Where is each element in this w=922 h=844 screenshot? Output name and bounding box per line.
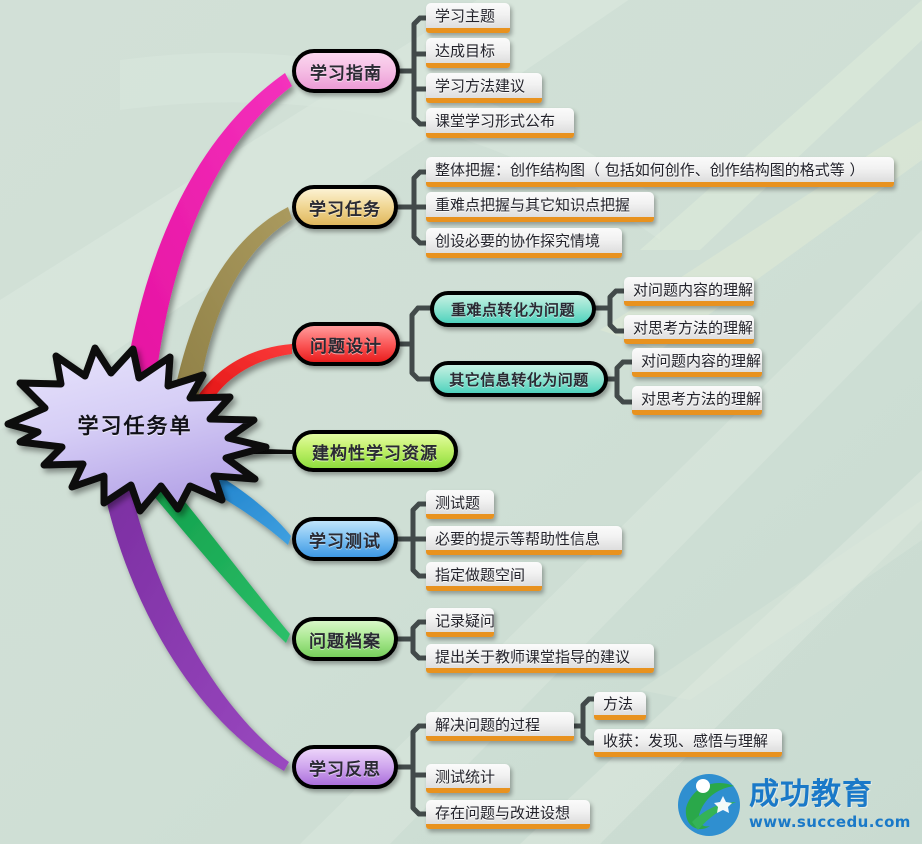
succedu-logo-icon (676, 772, 742, 838)
leaf-node[interactable]: 对问题内容的理解 (624, 277, 754, 306)
logo-brand-name: 成功教育 (749, 779, 911, 811)
leaf-node-label: 方法 (603, 693, 633, 714)
leaf-node[interactable]: 指定做题空间 (426, 562, 542, 591)
leaf-node[interactable]: 整体把握：创作结构图（ 包括如何创作、创作结构图的格式等 ） (426, 157, 894, 187)
leaf-node-label: 学习主题 (435, 5, 495, 26)
subbranch-node-qitaxinxi[interactable]: 其它信息转化为问题 (430, 361, 608, 397)
branch-node-label: 问题设计 (310, 332, 382, 357)
leaf-node[interactable]: 测试题 (426, 490, 494, 519)
logo-url: www.succedu.com (749, 813, 911, 831)
leaf-node-label: 必要的提示等帮助性信息 (435, 528, 600, 549)
leaf-node-label: 重难点把握与其它知识点把握 (435, 194, 630, 215)
leaf-node[interactable]: 创设必要的协作探究情境 (426, 228, 622, 258)
leaf-node[interactable]: 对思考方法的理解 (632, 386, 762, 415)
leaf-node-label: 指定做题空间 (435, 564, 525, 585)
branch-node-xuexiceshi[interactable]: 学习测试 (292, 517, 398, 561)
center-node-label: 学习任务单 (0, 370, 270, 480)
leaf-node[interactable]: 学习方法建议 (426, 73, 542, 103)
leaf-node-label: 达成目标 (435, 40, 495, 61)
leaf-node-label: 对问题内容的理解 (641, 350, 761, 371)
brand-logo: 成功教育 www.succedu.com (676, 772, 912, 838)
branch-node-label: 学习反思 (309, 755, 381, 780)
subbranch-node-label: 其它信息转化为问题 (449, 369, 589, 390)
branch-node-label: 建构性学习资源 (312, 439, 438, 464)
logo-text: 成功教育 www.succedu.com (749, 779, 911, 831)
leaf-node[interactable]: 方法 (594, 692, 646, 720)
center-node[interactable]: 学习任务单 (0, 370, 270, 480)
leaf-node-label: 收获：发现、感悟与理解 (603, 730, 768, 751)
leaf-node-label: 对思考方法的理解 (633, 317, 753, 338)
leaf-node[interactable]: 记录疑问 (426, 608, 494, 637)
branch-node-label: 学习测试 (309, 527, 381, 552)
leaf-node[interactable]: 课堂学习形式公布 (426, 108, 574, 138)
leaf-node-label: 学习方法建议 (435, 75, 525, 96)
leaf-node-label: 对思考方法的理解 (641, 388, 761, 409)
leaf-node[interactable]: 对思考方法的理解 (624, 315, 754, 344)
leaf-node-label: 测试题 (435, 492, 480, 513)
leaf-node[interactable]: 学习主题 (426, 3, 510, 33)
leaf-node-label: 课堂学习形式公布 (435, 110, 555, 131)
leaf-node-label: 对问题内容的理解 (633, 279, 753, 300)
branch-node-wentishieji[interactable]: 问题设计 (292, 322, 400, 366)
branch-node-label: 学习指南 (310, 59, 382, 84)
leaf-node-label: 存在问题与改进设想 (435, 802, 570, 823)
leaf-node-label: 创设必要的协作探究情境 (435, 230, 600, 251)
leaf-node[interactable]: 解决问题的过程 (426, 712, 574, 741)
subbranch-node-zhongnandian[interactable]: 重难点转化为问题 (430, 291, 596, 327)
leaf-node-label: 整体把握：创作结构图（ 包括如何创作、创作结构图的格式等 ） (435, 159, 865, 180)
leaf-node[interactable]: 测试统计 (426, 764, 510, 793)
leaf-node[interactable]: 提出关于教师课堂指导的建议 (426, 644, 654, 673)
leaf-node-label: 解决问题的过程 (435, 714, 540, 735)
branch-node-label: 问题档案 (309, 627, 381, 652)
leaf-node[interactable]: 必要的提示等帮助性信息 (426, 526, 622, 555)
leaf-node[interactable]: 存在问题与改进设想 (426, 800, 590, 829)
leaf-node-label: 提出关于教师课堂指导的建议 (435, 646, 630, 667)
branch-node-xuexizhinan[interactable]: 学习指南 (292, 49, 400, 93)
subbranch-node-label: 重难点转化为问题 (451, 299, 575, 320)
branch-node-label: 学习任务 (309, 195, 381, 220)
branch-node-xuexirenwu[interactable]: 学习任务 (292, 185, 398, 229)
leaf-node[interactable]: 达成目标 (426, 38, 510, 68)
branch-node-jiangouxing[interactable]: 建构性学习资源 (292, 430, 458, 472)
branch-node-xuexifansi[interactable]: 学习反思 (292, 745, 398, 789)
leaf-node[interactable]: 收获：发现、感悟与理解 (594, 729, 782, 757)
branch-node-wentidangan[interactable]: 问题档案 (292, 617, 398, 661)
mindmap-canvas: 学习任务单 学习指南 学习主题 达成目标 学习方法建议 课堂学习形式公布 学习任… (0, 0, 922, 844)
leaf-node-label: 记录疑问 (435, 610, 495, 631)
leaf-node[interactable]: 对问题内容的理解 (632, 348, 762, 377)
leaf-node-label: 测试统计 (435, 766, 495, 787)
leaf-node[interactable]: 重难点把握与其它知识点把握 (426, 192, 654, 222)
